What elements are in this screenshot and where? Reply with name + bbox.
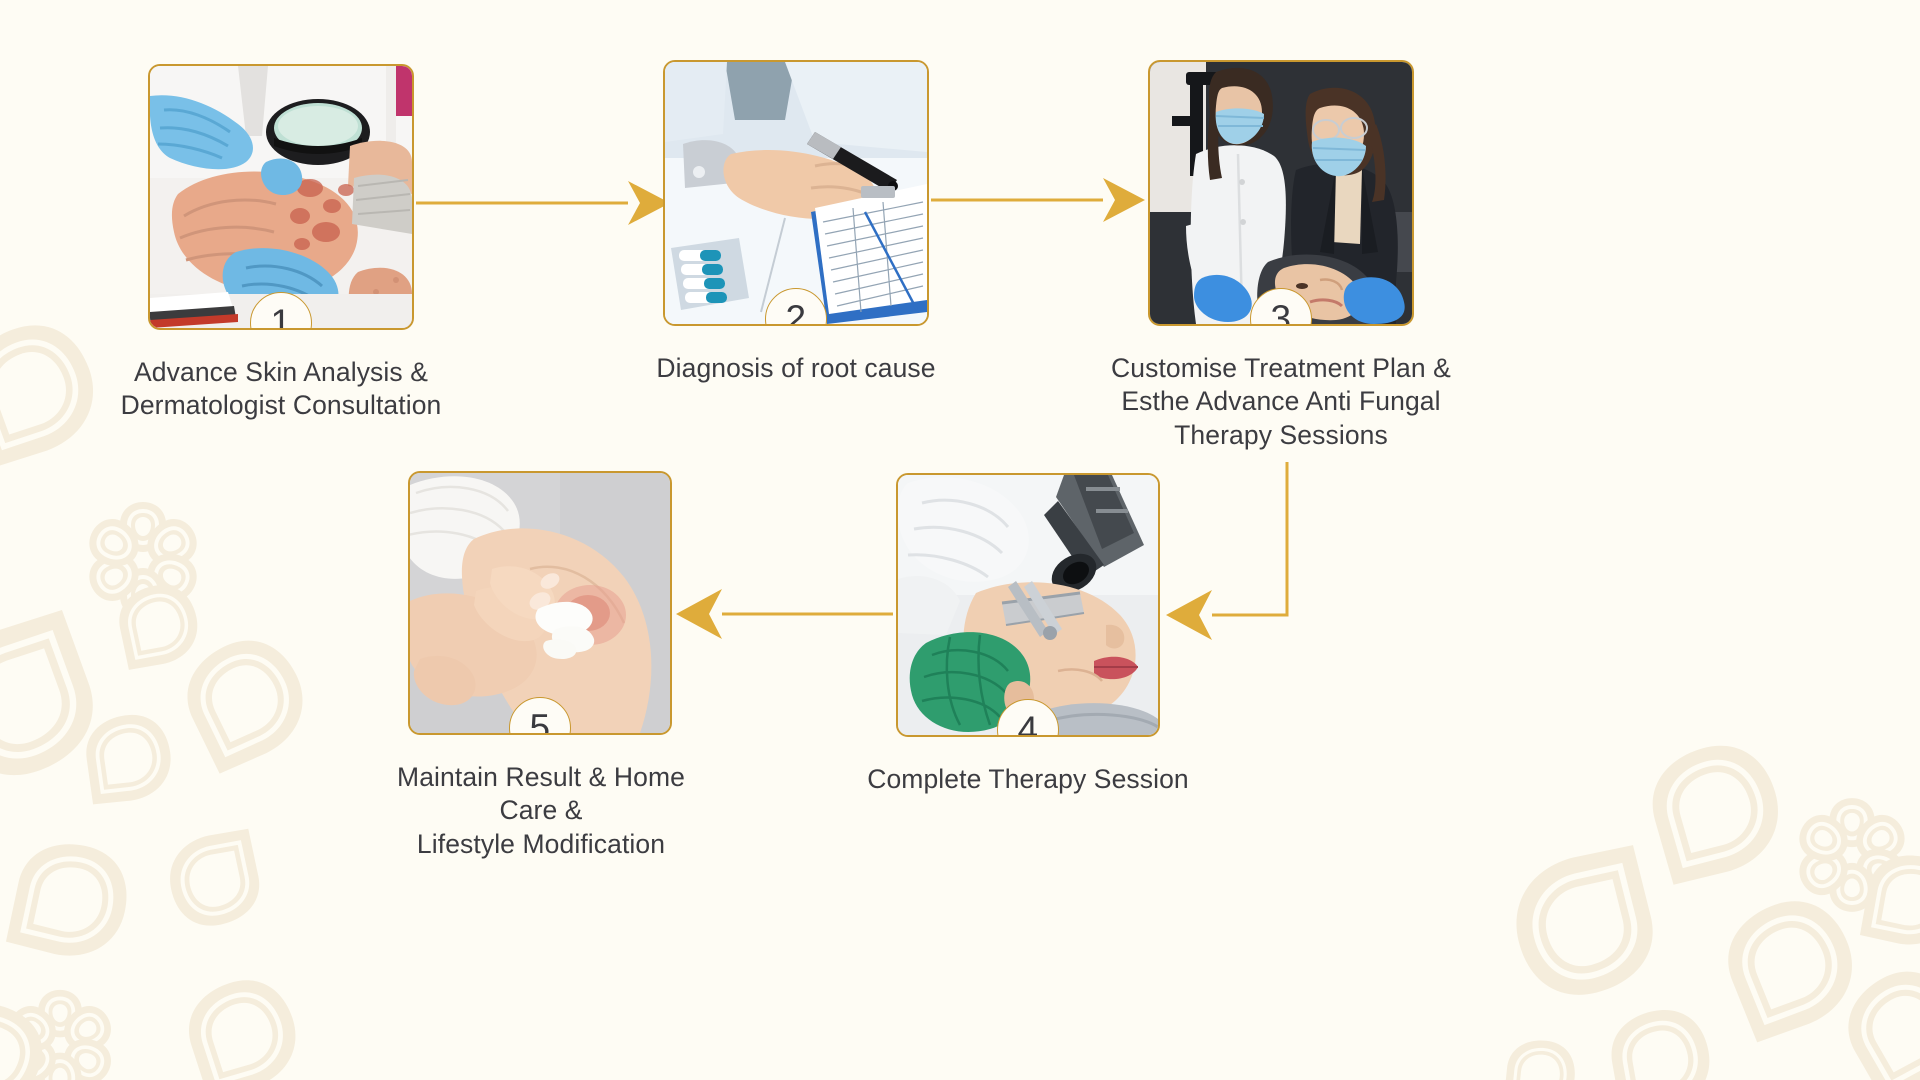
skin-analysis-photo: 1 bbox=[148, 64, 414, 330]
process-step-2[interactable]: 2 Diagnosis of root cause bbox=[663, 60, 929, 385]
process-step-3[interactable]: 3 Customise Treatment Plan & Esthe Advan… bbox=[1148, 60, 1414, 452]
step-caption: Diagnosis of root cause bbox=[636, 352, 956, 385]
treatment-plan-photo: 3 bbox=[1148, 60, 1414, 326]
home-care-photo: 5 bbox=[408, 471, 672, 735]
process-step-5[interactable]: 5 Maintain Result & Home Care & Lifestyl… bbox=[408, 471, 672, 861]
step-caption: Complete Therapy Session bbox=[860, 763, 1196, 796]
diagnosis-photo: 2 bbox=[663, 60, 929, 326]
step-caption: Customise Treatment Plan & Esthe Advance… bbox=[1107, 352, 1455, 452]
process-flow-steps: 1 Advance Skin Analysis & Dermatologist … bbox=[0, 0, 1920, 1080]
process-step-4[interactable]: 4 Complete Therapy Session bbox=[896, 473, 1160, 796]
therapy-session-photo: 4 bbox=[896, 473, 1160, 737]
step-caption: Maintain Result & Home Care & Lifestyle … bbox=[371, 761, 711, 861]
step-caption: Advance Skin Analysis & Dermatologist Co… bbox=[111, 356, 451, 423]
process-step-1[interactable]: 1 Advance Skin Analysis & Dermatologist … bbox=[148, 64, 414, 423]
